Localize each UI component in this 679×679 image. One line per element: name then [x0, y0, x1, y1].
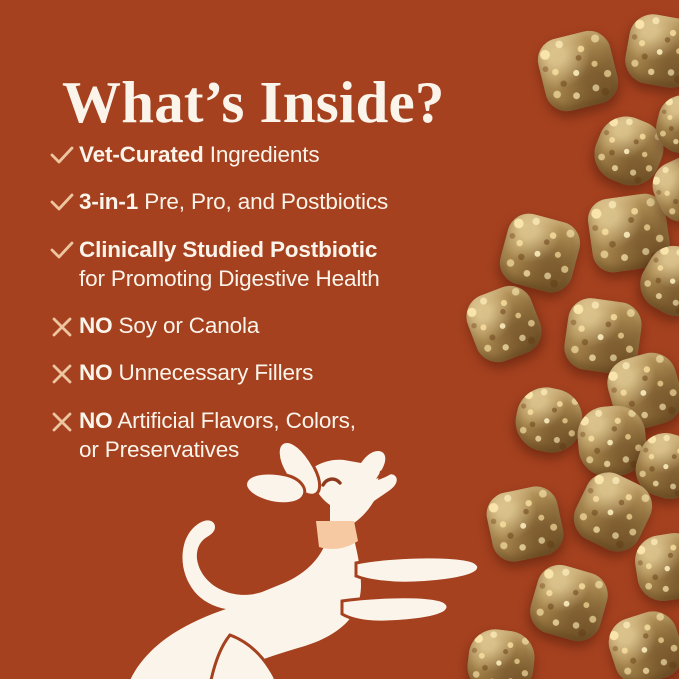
benefit-rest: Artificial Flavors, Colors,: [112, 408, 355, 433]
benefit-lead: NO: [79, 408, 112, 433]
benefit-rest: Ingredients: [204, 142, 320, 167]
benefit-lead: NO: [79, 313, 112, 338]
kibble-piece: [621, 10, 679, 91]
benefit-text: Vet-Curated Ingredients: [79, 140, 319, 169]
benefit-lead: NO: [79, 360, 112, 385]
kibble-piece: [602, 605, 679, 679]
benefit-item: Vet-Curated Ingredients: [45, 140, 500, 169]
benefit-text: 3-in-1 Pre, Pro, and Postbiotics: [79, 187, 388, 216]
kibble-piece: [525, 559, 614, 646]
kibble-piece: [631, 529, 679, 605]
benefit-rest: Unnecessary Fillers: [112, 360, 313, 385]
benefit-line2: for Promoting Digestive Health: [79, 264, 380, 293]
whats-inside-poster: What’s Inside? Vet-Curated Ingredients3-…: [0, 0, 679, 679]
kibble-piece: [651, 90, 679, 160]
check-icon: [45, 143, 79, 169]
benefit-lead: Vet-Curated: [79, 142, 204, 167]
cross-icon: [45, 409, 79, 435]
dog-ear-lower: [246, 473, 305, 504]
kibble-piece: [585, 191, 673, 275]
kibble-piece: [645, 148, 679, 230]
cross-icon: [45, 361, 79, 387]
cross-icon: [45, 314, 79, 340]
kibble-piece: [561, 295, 644, 377]
dog-illustration: [118, 435, 538, 679]
kibble-piece: [601, 347, 679, 436]
check-icon: [45, 190, 79, 216]
benefit-text: NO Soy or Canola: [79, 311, 259, 340]
benefit-item: NO Soy or Canola: [45, 311, 500, 340]
benefit-lead: 3-in-1: [79, 189, 138, 214]
benefit-lead: Clinically Studied Postbiotic: [79, 237, 377, 262]
kibble-piece: [575, 403, 649, 479]
benefit-item: 3-in-1 Pre, Pro, and Postbiotics: [45, 187, 500, 216]
benefit-text: NO Unnecessary Fillers: [79, 358, 313, 387]
benefit-rest: Pre, Pro, and Postbiotics: [138, 189, 388, 214]
kibble-piece: [631, 236, 679, 325]
kibble-piece: [566, 464, 660, 559]
dog-front-leg-upper: [356, 557, 479, 583]
benefit-item: NO Unnecessary Fillers: [45, 358, 500, 387]
page-title: What’s Inside?: [62, 73, 445, 132]
check-icon: [45, 238, 79, 264]
kibble-piece: [495, 209, 585, 298]
kibble-piece: [586, 108, 672, 194]
benefits-list: Vet-Curated Ingredients3-in-1 Pre, Pro, …: [45, 140, 500, 482]
benefit-item: Clinically Studied Postbioticfor Promoti…: [45, 235, 500, 294]
benefit-text: Clinically Studied Postbioticfor Promoti…: [79, 235, 380, 294]
kibble-piece: [533, 26, 623, 116]
kibble-piece: [629, 426, 679, 506]
dog-front-leg-lower: [342, 597, 448, 622]
benefit-rest: Soy or Canola: [112, 313, 259, 338]
